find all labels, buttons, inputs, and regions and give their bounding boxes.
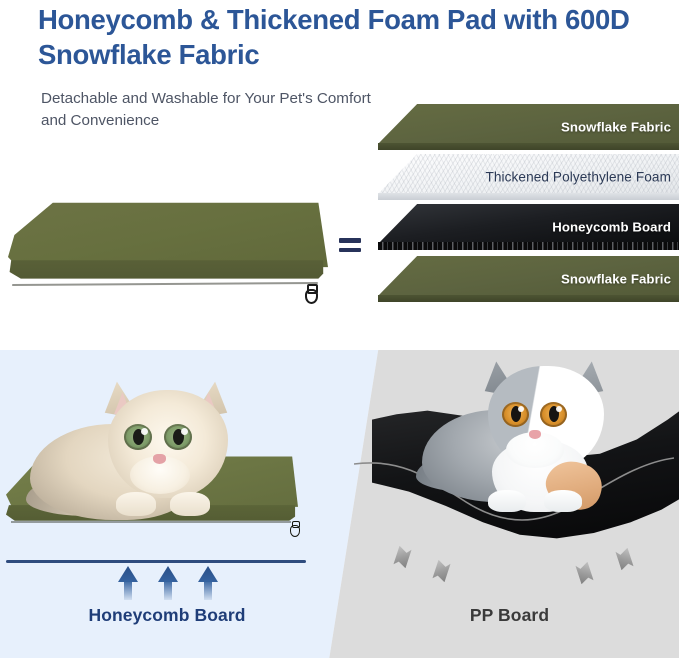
pad-side-edge xyxy=(8,256,328,298)
gray-cat-illustration xyxy=(422,362,652,522)
layer-honeycomb-board: Honeycomb Board xyxy=(378,204,679,250)
pad-zipper-line xyxy=(12,282,318,286)
layer-snowflake-fabric-bottom: Snowflake Fabric xyxy=(378,256,679,302)
cat-eye-left xyxy=(502,402,529,427)
cat-eye-right xyxy=(164,424,192,450)
arrow-up-icon xyxy=(158,566,178,600)
cat-paw-left xyxy=(116,492,156,516)
arrow-down-icon xyxy=(432,559,450,582)
arrow-up-icon xyxy=(198,566,218,600)
product-feature-header: Honeycomb & Thickened Foam Pad with 600D… xyxy=(0,0,679,350)
layer-snowflake-fabric-top: Snowflake Fabric xyxy=(378,104,679,150)
arrow-shaft xyxy=(124,580,132,600)
cat-nose xyxy=(153,454,166,464)
cat-eye-left xyxy=(124,424,152,450)
layer-edge xyxy=(378,193,679,200)
equals-bar-bottom xyxy=(339,248,361,253)
comparison-panel-honeycomb: Honeycomb Board xyxy=(0,350,340,658)
comparison-section: Honeycomb Board VS xyxy=(0,350,679,658)
product-pad-image xyxy=(8,200,328,310)
green-mat-zipper-line xyxy=(11,521,291,523)
arrow-shaft xyxy=(204,580,212,600)
layer-polyethylene-foam: Thickened Polyethylene Foam xyxy=(378,154,679,200)
zipper-pull-icon xyxy=(305,284,316,301)
zipper-pull-icon xyxy=(290,521,300,536)
layer-edge xyxy=(378,143,679,150)
cat-nose xyxy=(529,430,541,439)
layer-label: Snowflake Fabric xyxy=(561,120,671,135)
layer-exploded-diagram: Snowflake Fabric Thickened Polyethylene … xyxy=(378,104,679,304)
equals-bar-top xyxy=(339,238,361,243)
arrow-down-icon xyxy=(575,561,593,584)
arrow-up-icon xyxy=(118,566,138,600)
layer-honeycomb-cells-edge xyxy=(378,242,679,250)
cat-paw-right xyxy=(170,492,210,516)
page-subtitle: Detachable and Washable for Your Pet's C… xyxy=(41,88,381,132)
left-panel-label: Honeycomb Board xyxy=(0,605,334,626)
cat-paw-right xyxy=(544,490,582,512)
upward-support-arrows xyxy=(118,566,218,600)
page-title: Honeycomb & Thickened Foam Pad with 600D… xyxy=(38,2,678,72)
comparison-panel-pp: PP Board xyxy=(340,350,679,658)
layer-label: Thickened Polyethylene Foam xyxy=(485,170,671,185)
layer-edge xyxy=(378,295,679,302)
layer-label: Snowflake Fabric xyxy=(561,272,671,287)
cat-eye-right xyxy=(540,402,567,427)
layer-label: Honeycomb Board xyxy=(552,220,671,235)
right-panel-label: PP Board xyxy=(340,605,679,626)
cat-paw-left xyxy=(488,490,526,512)
flat-support-line xyxy=(6,560,306,563)
arrow-shaft xyxy=(164,580,172,600)
cream-cat-illustration xyxy=(30,380,270,520)
equals-icon xyxy=(339,238,361,254)
